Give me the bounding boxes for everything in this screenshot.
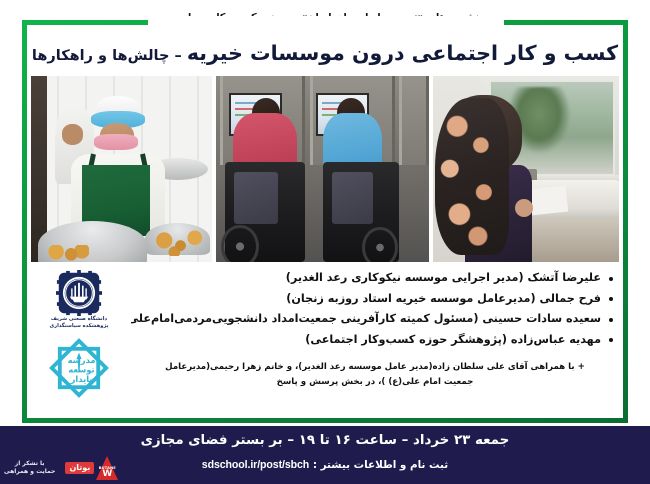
sd-logo-word-3: پایدار [70, 374, 93, 385]
photo3-person-2-face [62, 124, 84, 144]
page-title-separator: – [169, 48, 186, 64]
butane-brand-name: بوتان [65, 462, 94, 474]
photo2-wheelchair-2-seat [332, 172, 373, 224]
photo2-wheelchair-1-wheel [221, 225, 258, 262]
event-date-time: جمعه ۲۳ خرداد – ساعت ۱۶ تا ۱۹ – بر بستر … [0, 433, 650, 448]
photo2-wheelchair-2 [323, 162, 400, 262]
list-item: فرح جمالی (مدیرعامل موسسه خیریه استاد رو… [135, 289, 615, 310]
registration-label: ثبت نام و اطلاعات بیشتر : [313, 459, 448, 471]
photo2-wheelchair-2-wheel [362, 227, 397, 262]
kitchen-catering-photo [31, 76, 212, 262]
photo3-food-primary [42, 245, 89, 262]
photo3-food-secondary [154, 230, 205, 256]
photo2-booth-3 [399, 76, 429, 165]
frame-top-gap [148, 16, 504, 28]
photo3-person-1-mask [94, 134, 137, 151]
photo2-wheelchair-1-seat [234, 172, 278, 224]
butane-logo: BUTANE W بوتان [60, 456, 118, 480]
footer-bar: جمعه ۲۳ خرداد – ساعت ۱۶ تا ۱۹ – بر بستر … [0, 426, 650, 484]
sponsor-thanks-line-1: با تشکر از [4, 460, 55, 468]
content-area: علیرضا آتشک (مدیر اجرایی موسسه نیکوکاری … [27, 266, 623, 418]
logo-column: دانشگاه صنعتی شریف پژوهشکده سیاستگذاری م… [27, 266, 131, 418]
photo2-wheelchair-1 [225, 162, 306, 262]
butane-mark-letter: W [96, 470, 118, 479]
computer-lab-wheelchair-photo [216, 76, 429, 262]
sharif-university-logo: دانشگاه صنعتی شریف پژوهشکده سیاستگذاری [34, 270, 124, 330]
page-title-main: کسب و کار اجتماعی درون موسسات خیریه [187, 41, 618, 65]
sponsor-thanks-line-2: حمایت و همراهی [4, 468, 55, 476]
sharif-logo-caption-line-2: پژوهشکده سیاستگذاری [34, 323, 124, 330]
guest-note: + با همراهی آقای علی سلطان زاده(مدیر عام… [135, 360, 615, 389]
speakers-list: علیرضا آتشک (مدیر اجرایی موسسه نیکوکاری … [135, 268, 615, 350]
list-item: علیرضا آتشک (مدیر اجرایی موسسه نیکوکاری … [135, 268, 615, 289]
list-item: مهدیه عباس‌زاده (پژوهشگر حوزه کسب‌وکار ا… [135, 330, 615, 351]
photo-strip [31, 76, 619, 262]
butane-triangle-icon: BUTANE W [96, 456, 118, 480]
sd-school-star-icon: مدرسه توسعه پایدار [46, 336, 112, 400]
sponsor-block: BUTANE W بوتان با تشکر از حمایت و همراهی [4, 456, 118, 480]
guest-note-line-1: + با همراهی آقای علی سلطان زاده(مدیر عام… [141, 360, 609, 375]
event-poster: نشست‌های «توسعه پایدار برای ایران» – پرو… [0, 0, 650, 484]
sd-school-logo: مدرسه توسعه پایدار [46, 336, 112, 400]
page-title-sub: چالش‌ها و راهکارها [32, 48, 170, 64]
list-item: سعیده سادات حسینی (مسئول کمیته کارآفرینی… [135, 309, 615, 330]
photo1-floral-headscarf [435, 98, 509, 254]
guest-note-line-2: جمعیت امام علی(ع) )، در بخش پرسش و پاسخ [141, 375, 609, 390]
sharif-emblem-icon [56, 270, 102, 316]
page-title: کسب و کار اجتماعی درون موسسات خیریه – چا… [30, 33, 620, 73]
sharif-logo-caption-line-1: دانشگاه صنعتی شریف [34, 316, 124, 323]
sewing-workshop-photo [433, 76, 619, 262]
speakers-block: علیرضا آتشک (مدیر اجرایی موسسه نیکوکاری … [131, 266, 623, 418]
sponsor-thanks: با تشکر از حمایت و همراهی [4, 460, 55, 476]
registration-url[interactable]: sdschool.ir/post/sbch [202, 459, 309, 471]
